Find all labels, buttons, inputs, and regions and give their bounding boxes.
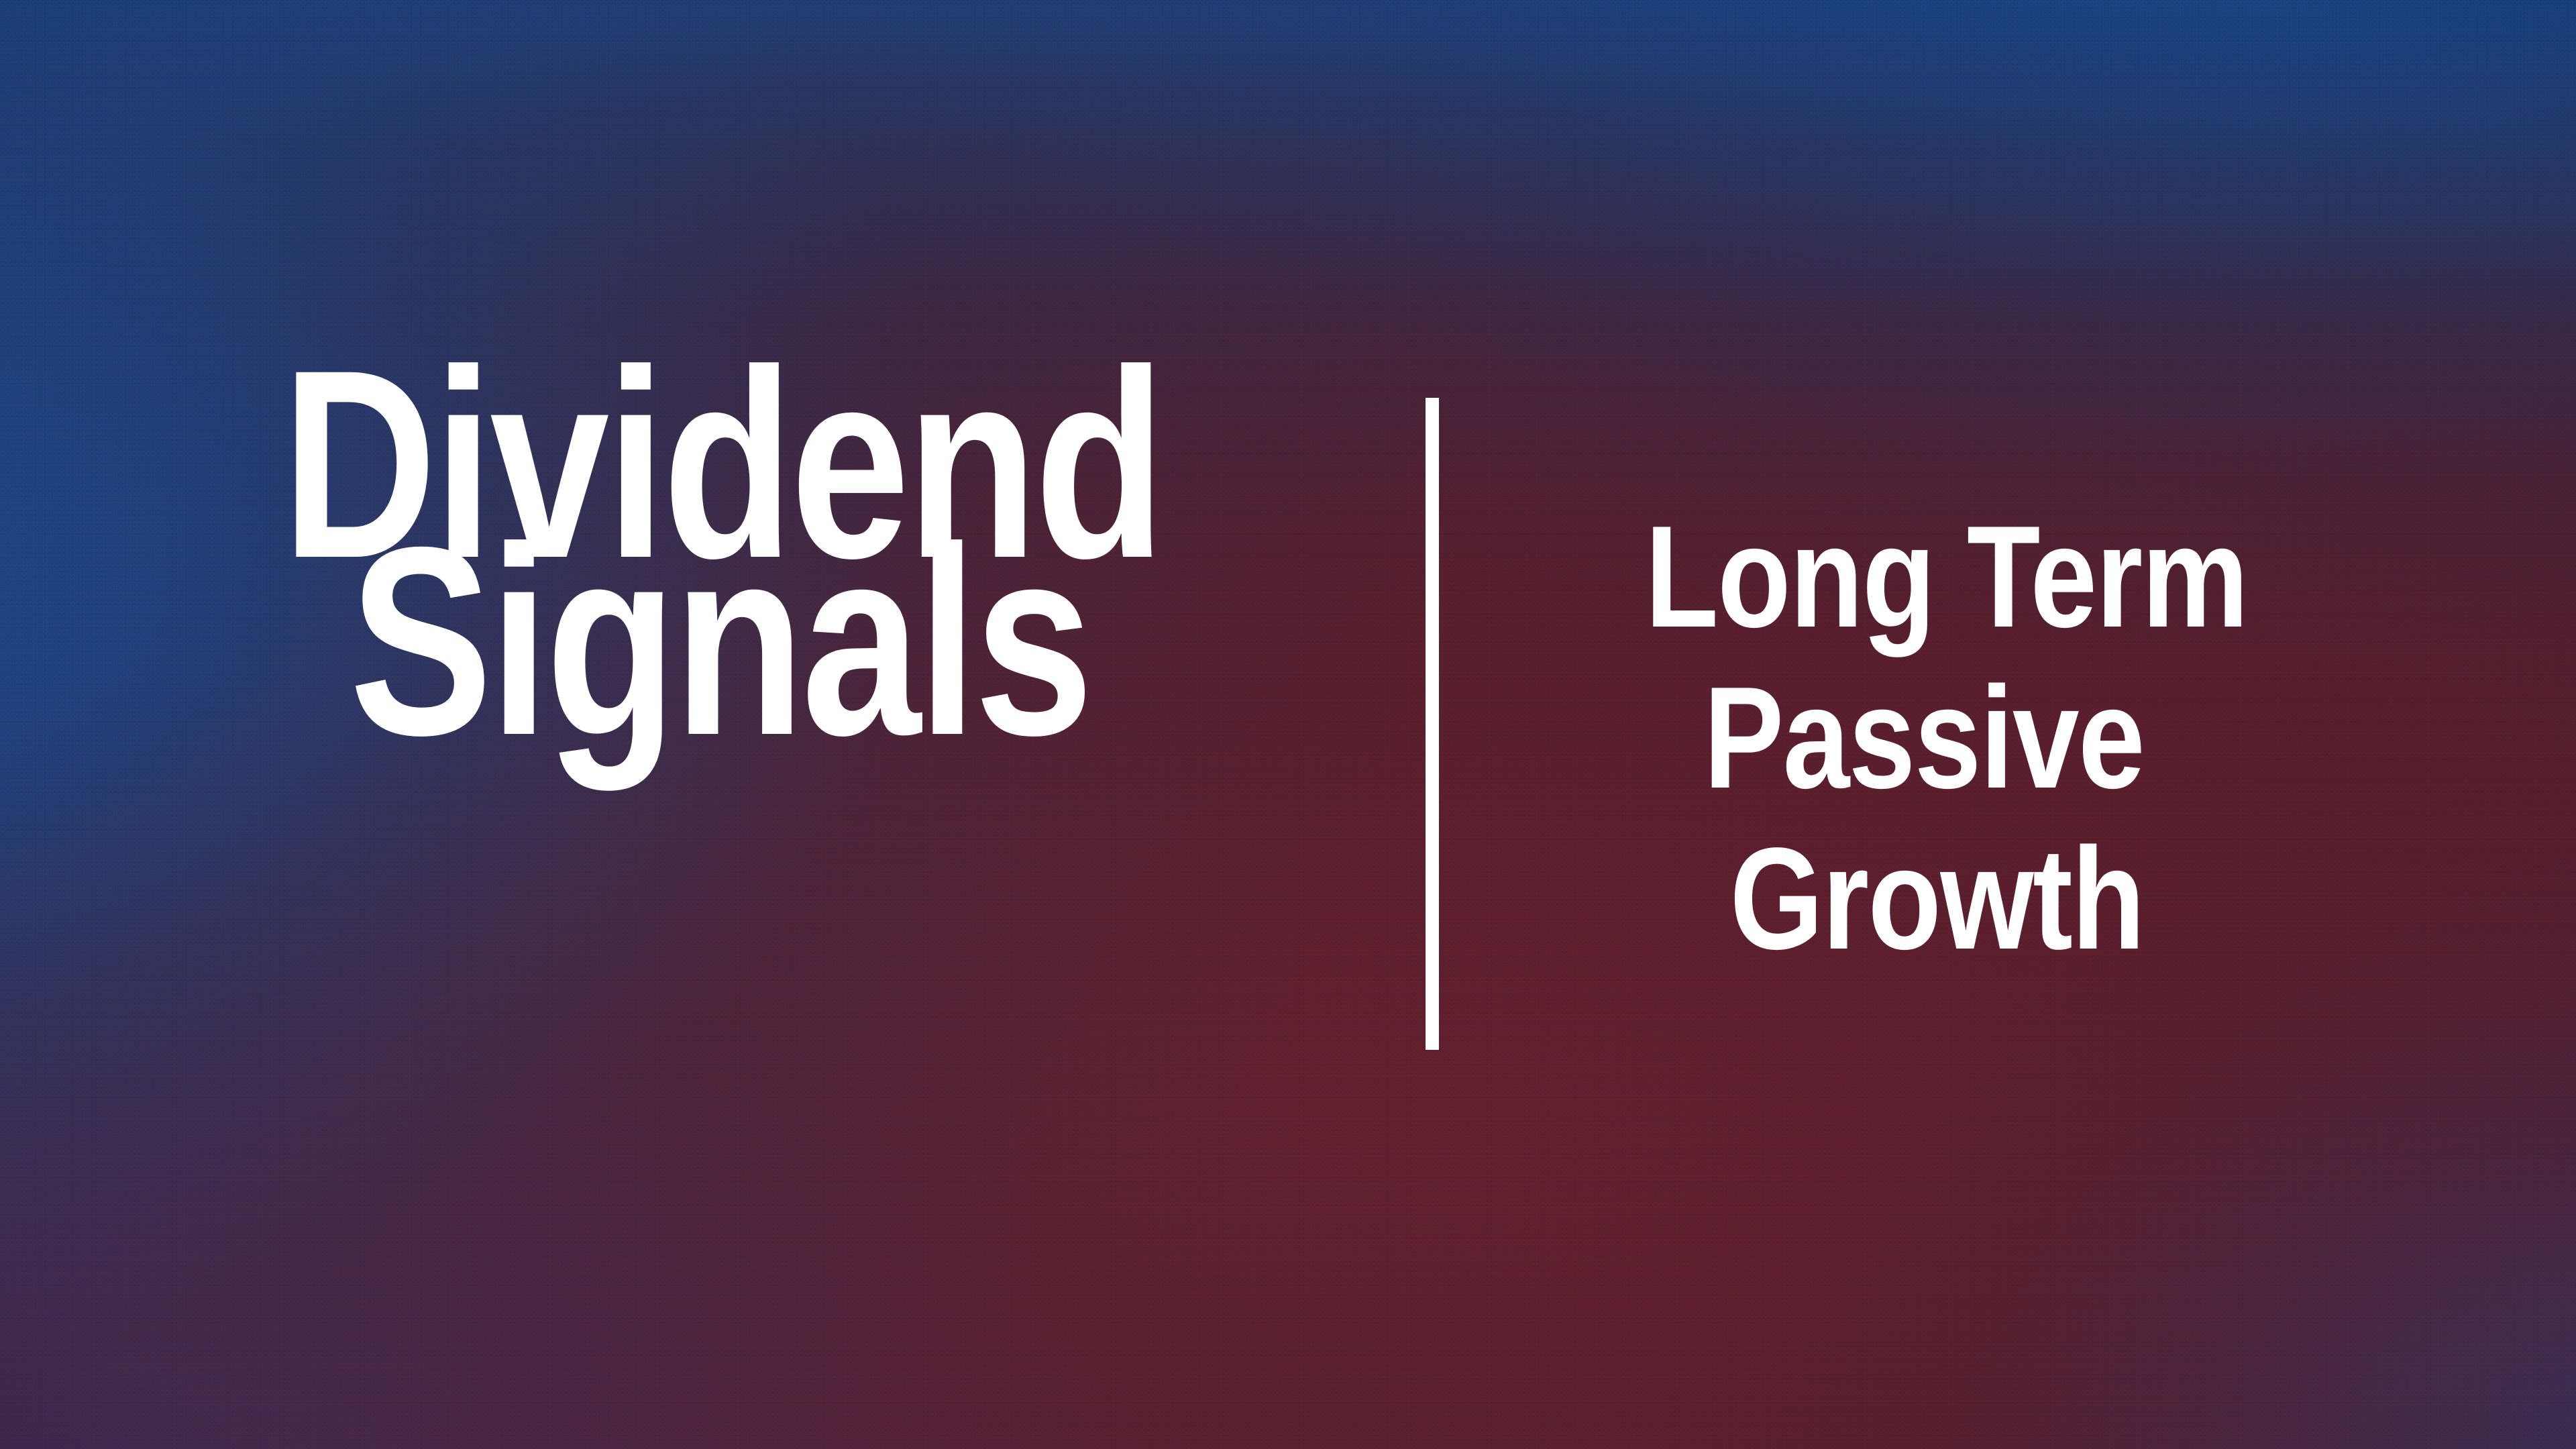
subheadline: Long Term Passive Growth	[1645, 496, 2144, 979]
subheadline-line-growth: Growth	[1645, 818, 2144, 979]
headline: Dividend Signals	[282, 376, 1162, 730]
subheadline-line-long-term: Long Term	[1645, 496, 2144, 657]
headline-line-signals: Signals	[350, 553, 1162, 730]
vertical-divider-rule	[1426, 398, 1439, 1050]
title-banner: Dividend Signals Long Term Passive Growt…	[0, 0, 2576, 1449]
subheadline-line-passive: Passive	[1645, 657, 2144, 818]
